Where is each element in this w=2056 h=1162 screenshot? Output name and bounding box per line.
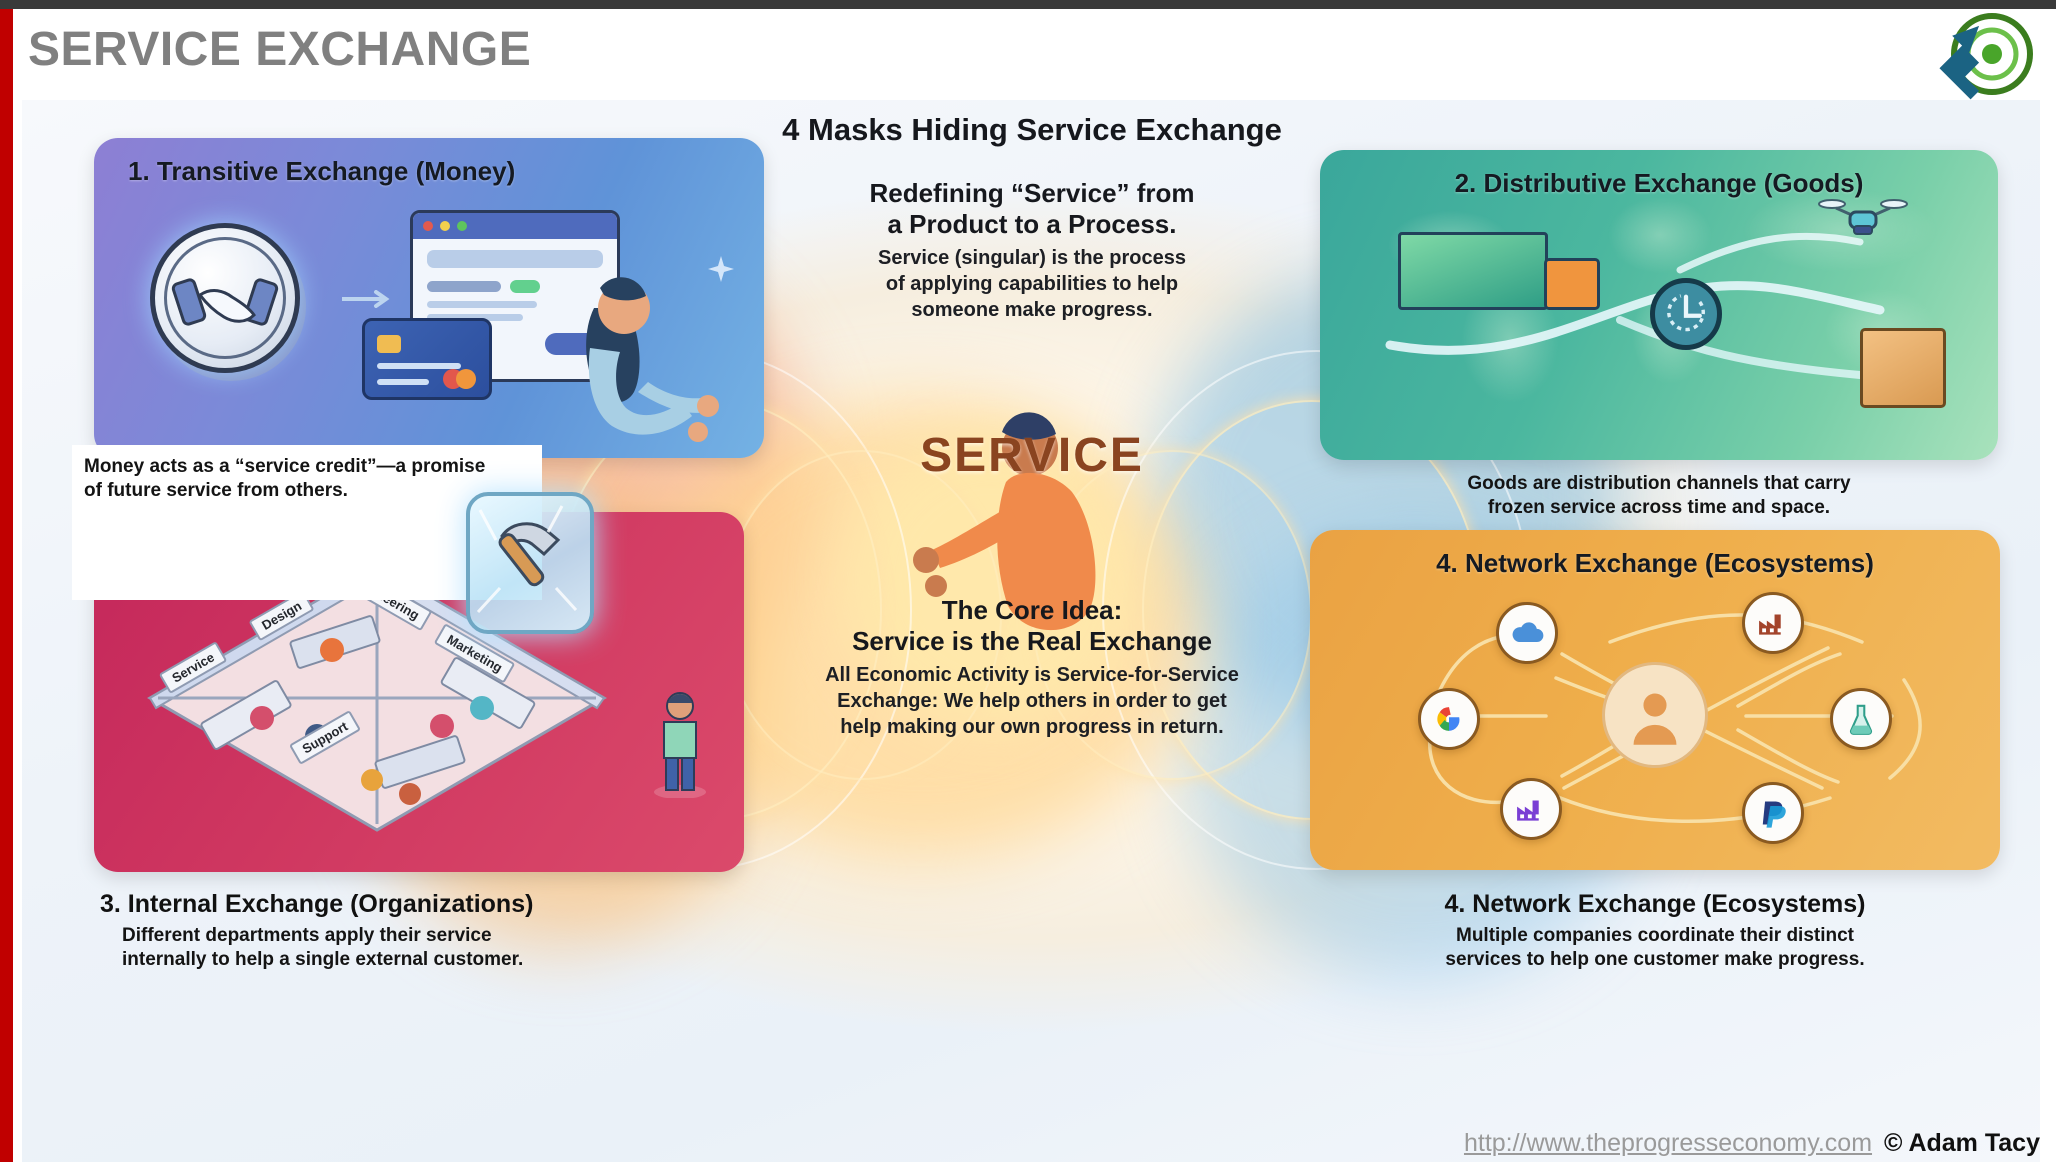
caption-transitive-line1: Money acts as a “service credit”—a promi…	[84, 455, 544, 479]
paypal-icon	[1742, 782, 1804, 844]
footer: http://www.theprogresseconomy.com © Adam…	[1464, 1129, 2040, 1158]
card-distributive-title: 2. Distributive Exchange (Goods)	[1320, 168, 1998, 199]
center-headline: 4 Masks Hiding Service Exchange	[662, 112, 1402, 148]
cloud-icon	[1496, 602, 1558, 664]
service-core-word: SERVICE	[722, 428, 1342, 483]
woman-reaching-icon	[542, 266, 742, 461]
center-upper-body-line2: of applying capabilities to help	[752, 272, 1312, 298]
caption-distributive-line1: Goods are distribution channels that car…	[1320, 472, 1998, 496]
window-top-bar	[0, 0, 2056, 9]
center-lower-body-line1: All Economic Activity is Service-for-Ser…	[752, 663, 1312, 689]
hammer-in-ice-icon	[466, 492, 594, 634]
card-transitive-title: 1. Transitive Exchange (Money)	[94, 156, 764, 187]
caption-network-line1: Multiple companies coordinate their dist…	[1310, 924, 2000, 948]
browser-titlebar	[413, 213, 617, 239]
infographic-canvas: 1. Transitive Exchange (Money)	[22, 100, 2040, 1162]
caption-internal-title: 3. Internal Exchange (Organizations)	[100, 888, 700, 920]
factory-icon	[1742, 592, 1804, 654]
window-maximize-dot	[457, 221, 467, 231]
center-lower-body-line3: help making our own progress in return.	[752, 715, 1312, 741]
google-cloud-icon	[1418, 688, 1480, 750]
left-accent-bar	[0, 9, 13, 1162]
credit-card-icon	[362, 318, 492, 400]
card-network-exchange[interactable]: 4. Network Exchange (Ecosystems)	[1310, 530, 2000, 870]
center-lower-title-line2: Service is the Real Exchange	[752, 626, 1312, 657]
caption-network-title: 4. Network Exchange (Ecosystems)	[1310, 888, 2000, 920]
external-customer-icon	[652, 688, 708, 803]
shipping-truck-icon	[1398, 232, 1548, 310]
center-upper-body-line1: Service (singular) is the process	[752, 246, 1312, 272]
center-upper-block: Redefining “Service” from a Product to a…	[752, 178, 1312, 323]
arrow-right-icon	[342, 290, 394, 313]
center-lower-body-line2: Exchange: We help others in order to get	[752, 689, 1312, 715]
caption-network-line2: services to help one customer make progr…	[1310, 948, 2000, 972]
footer-copyright: © Adam Tacy	[1884, 1129, 2040, 1158]
footer-website-link[interactable]: http://www.theprogresseconomy.com	[1464, 1129, 1872, 1158]
center-upper-body-line3: someone make progress.	[752, 298, 1312, 324]
handshake-coin-icon	[150, 223, 300, 373]
center-upper-title-line2: a Product to a Process.	[752, 209, 1312, 240]
flask-icon	[1830, 688, 1892, 750]
clock-icon	[1650, 278, 1722, 350]
caption-internal-exchange: 3. Internal Exchange (Organizations) Dif…	[100, 888, 700, 973]
center-lower-block: The Core Idea: Service is the Real Excha…	[752, 595, 1312, 740]
caption-network-exchange: 4. Network Exchange (Ecosystems) Multipl…	[1310, 888, 2000, 973]
caption-distributive-exchange: Goods are distribution channels that car…	[1320, 472, 1998, 521]
center-upper-title-line1: Redefining “Service” from	[752, 178, 1312, 209]
page-title: SERVICE EXCHANGE	[28, 22, 531, 77]
caption-internal-line2: internally to help a single external cus…	[122, 948, 700, 972]
window-minimize-dot	[440, 221, 450, 231]
card-network-title: 4. Network Exchange (Ecosystems)	[1310, 548, 2000, 579]
target-arrow-logo	[1930, 6, 2040, 106]
parcel-box-icon	[1860, 328, 1946, 408]
window-close-dot	[423, 221, 433, 231]
customer-avatar-icon	[1602, 662, 1708, 768]
caption-distributive-line2: frozen service across time and space.	[1320, 496, 1998, 520]
factory-purple-icon	[1500, 778, 1562, 840]
center-lower-title-line1: The Core Idea:	[752, 595, 1312, 626]
caption-internal-line1: Different departments apply their servic…	[122, 924, 700, 948]
card-distributive-exchange[interactable]: 2. Distributive Exchange (Goods)	[1320, 150, 1998, 460]
